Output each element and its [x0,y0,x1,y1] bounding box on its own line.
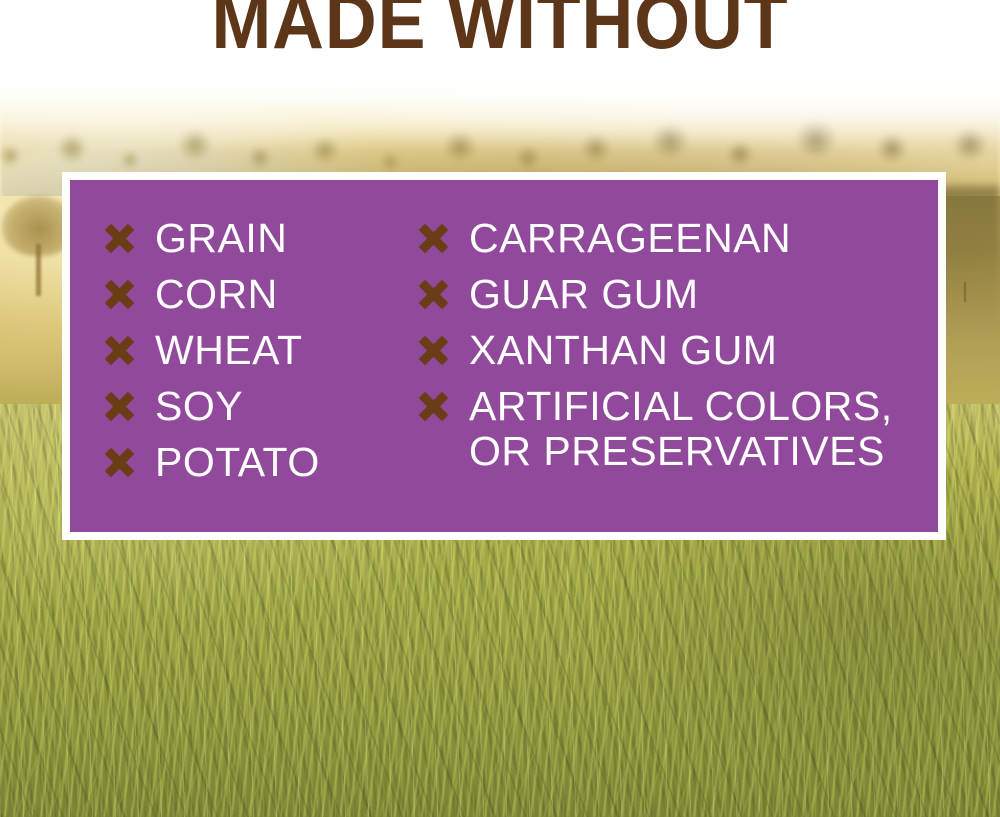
list-item-label: GUAR GUM [469,272,699,316]
made-without-panel: GRAIN CORN WHEAT SOY [62,172,946,540]
list-item-label: XANTHAN GUM [469,328,777,372]
x-mark-icon [106,225,133,252]
list-item: SOY [106,384,420,428]
x-mark-icon [106,449,133,476]
list-item-label: WHEAT [155,328,303,372]
right-column: CARRAGEENAN GUAR GUM XANTHAN GUM ARTIFIC… [420,216,938,532]
made-without-banner: MADE WITHOUT GRAIN CORN WHEAT [0,0,1000,817]
list-item-label: GRAIN [155,216,287,260]
list-item-label: CORN [155,272,278,316]
list-item: POTATO [106,440,420,484]
list-item-label: CARRAGEENAN [469,216,791,260]
list-item: CARRAGEENAN [420,216,938,260]
x-mark-icon [420,393,447,420]
ingredient-columns: GRAIN CORN WHEAT SOY [70,180,938,532]
list-item: ARTIFICIAL COLORS, OR PRESERVATIVES [420,384,938,474]
x-mark-icon [420,337,447,364]
list-item-label: POTATO [155,440,320,484]
x-mark-icon [106,281,133,308]
lone-tree-trunk [36,244,41,296]
list-item: WHEAT [106,328,420,372]
list-item-label: ARTIFICIAL COLORS, OR PRESERVATIVES [469,384,893,474]
panel-inner: GRAIN CORN WHEAT SOY [70,180,938,532]
list-item: XANTHAN GUM [420,328,938,372]
x-mark-icon [106,337,133,364]
list-item: GUAR GUM [420,272,938,316]
page-title: MADE WITHOUT [40,0,960,60]
list-item: GRAIN [106,216,420,260]
x-mark-icon [420,281,447,308]
x-mark-icon [106,393,133,420]
left-column: GRAIN CORN WHEAT SOY [106,216,420,532]
list-item-label: SOY [155,384,243,428]
x-mark-icon [420,225,447,252]
list-item: CORN [106,272,420,316]
